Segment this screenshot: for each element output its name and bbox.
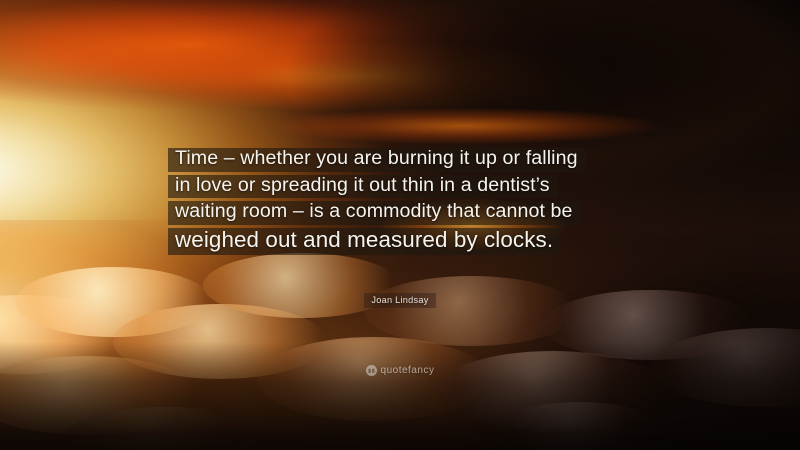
quote-line: weighed out and measured by clocks. <box>168 228 560 255</box>
quote-author: Joan Lindsay <box>0 290 800 308</box>
quote-poster: Time – whether you are burning it up or … <box>0 0 800 450</box>
cloud-sea-shadow-floor <box>0 342 800 450</box>
quote-line: waiting room – is a commodity that canno… <box>168 201 580 225</box>
quote-line: Time – whether you are burning it up or … <box>168 148 585 172</box>
quote-text-block: Time – whether you are burning it up or … <box>168 148 636 258</box>
quote-line: in love or spreading it out thin in a de… <box>168 175 557 199</box>
cloud-puff <box>364 276 579 346</box>
quote-author-label: Joan Lindsay <box>364 293 435 308</box>
watermark-label: quotefancy <box>381 365 435 376</box>
cloud-sea <box>0 234 800 450</box>
quote-mark-icon <box>366 365 377 376</box>
watermark[interactable]: quotefancy <box>0 365 800 376</box>
